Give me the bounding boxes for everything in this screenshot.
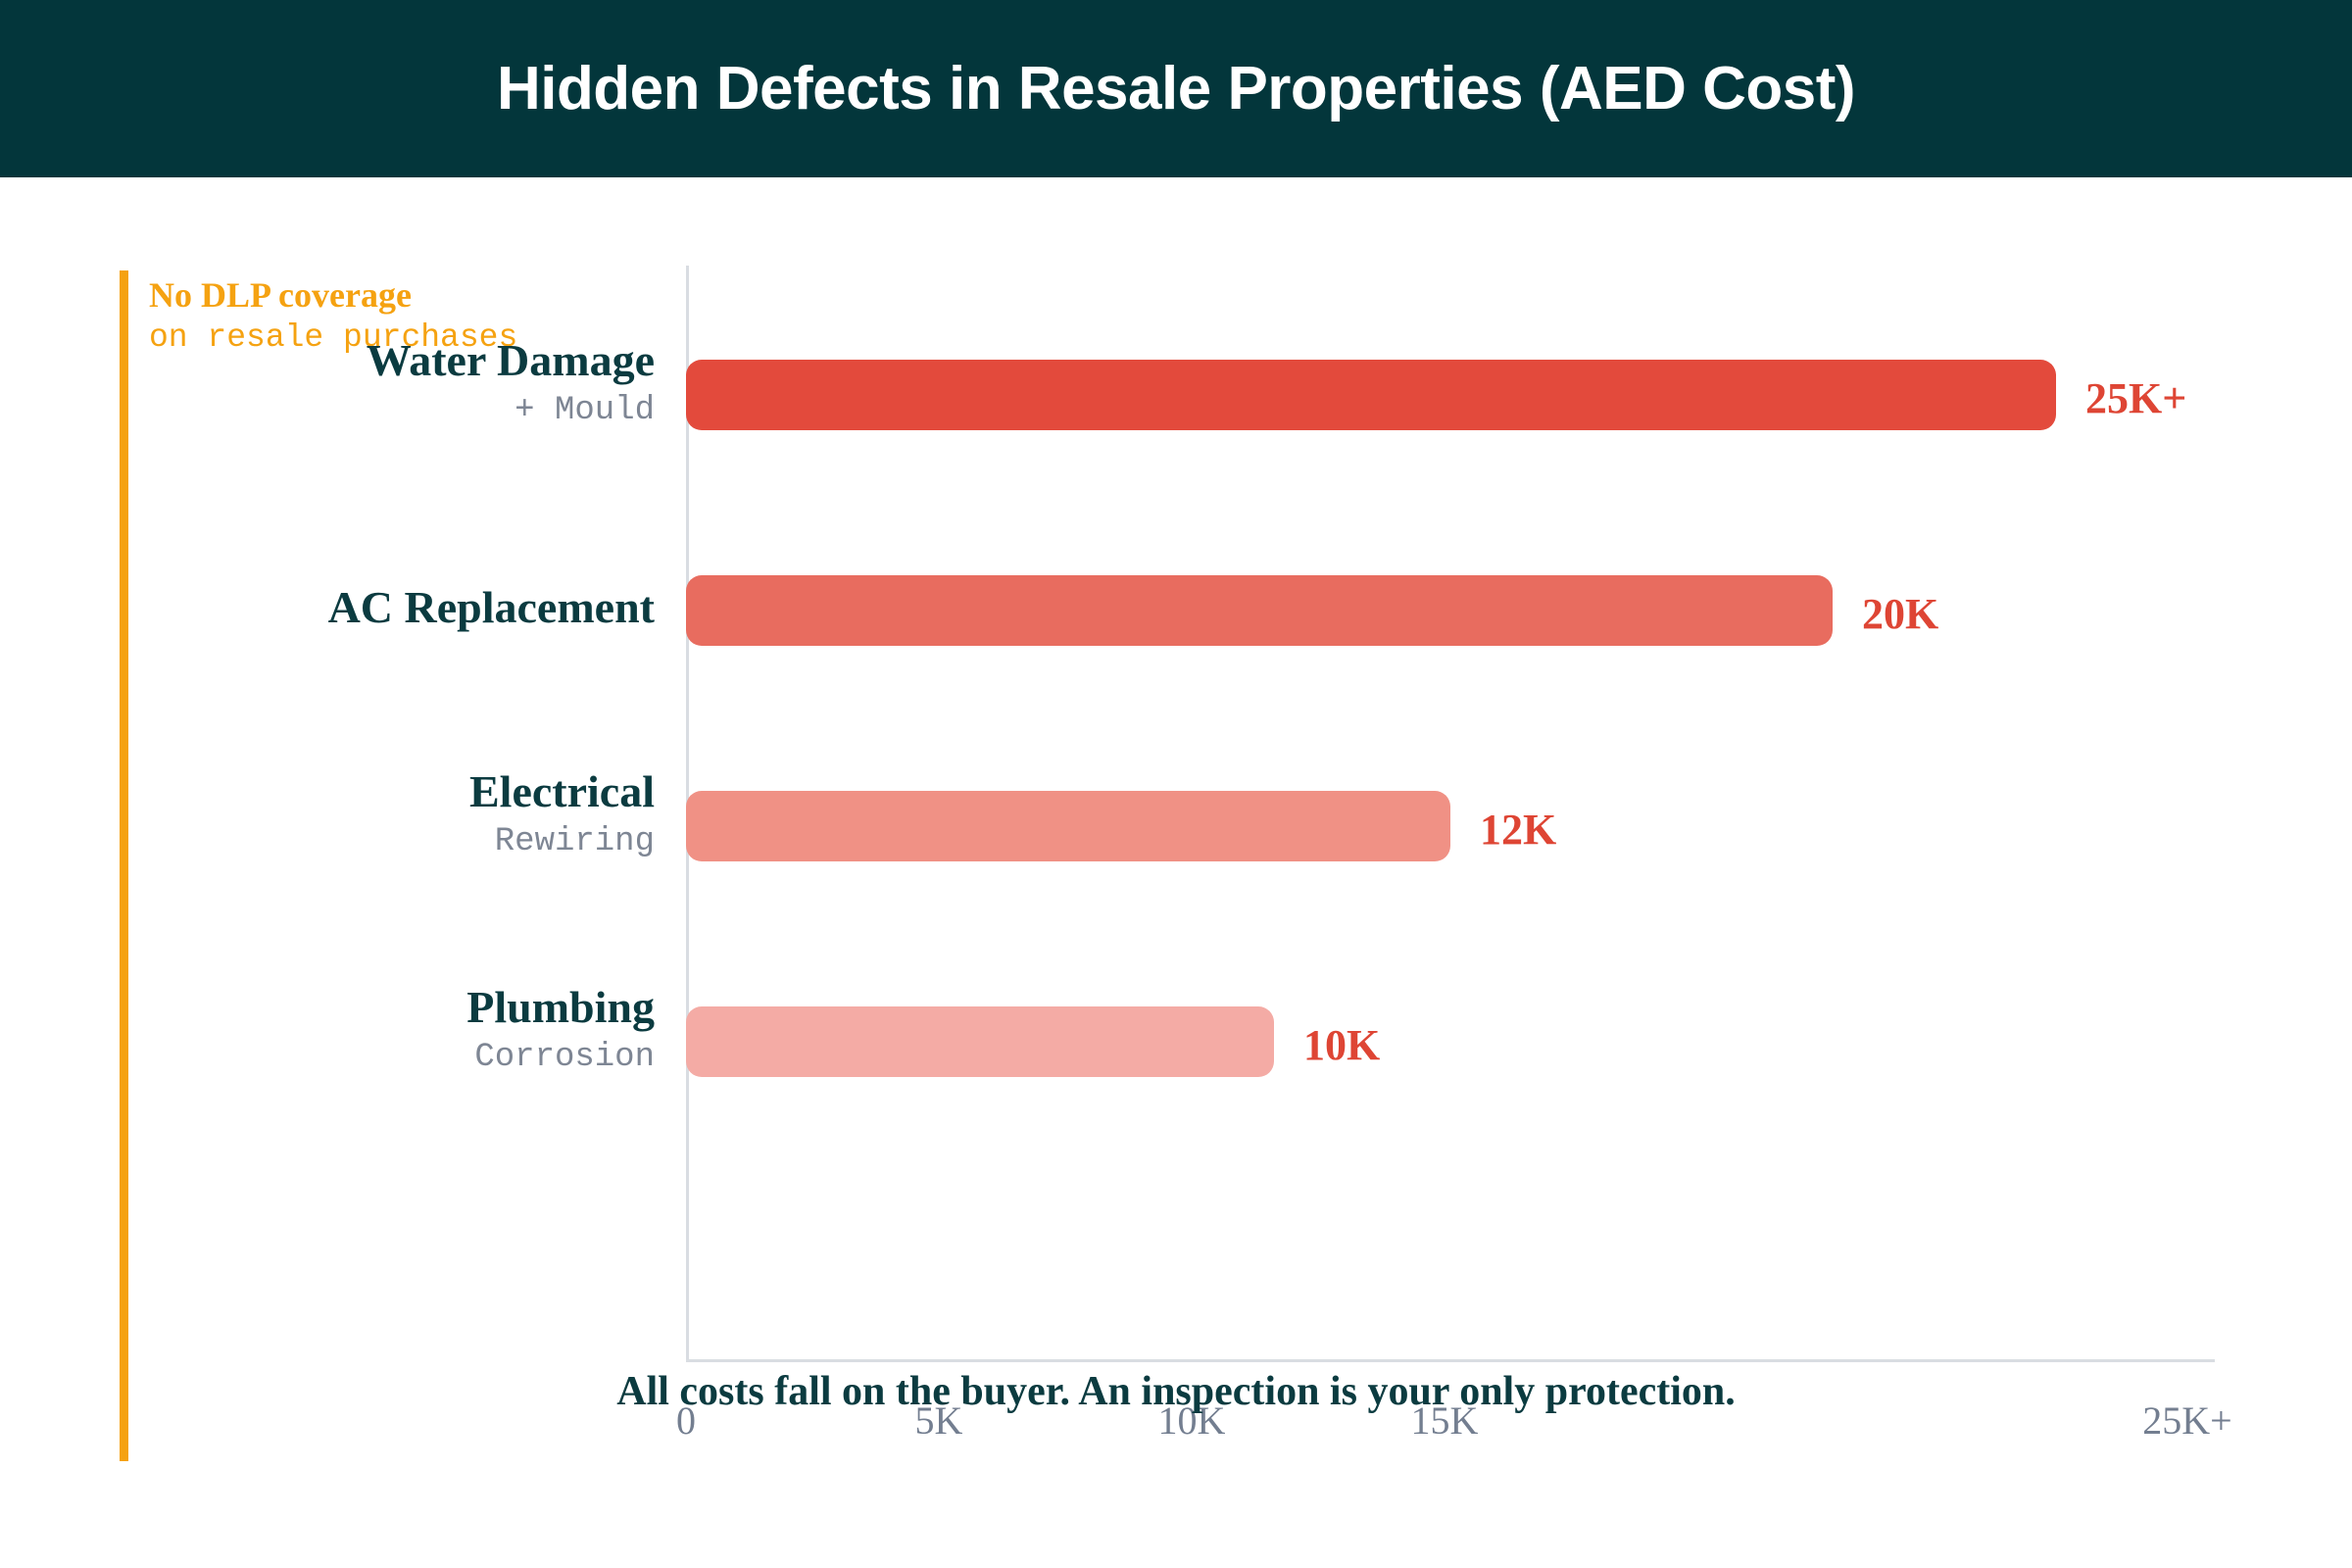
bar-category-label-group: ElectricalRewiring xyxy=(47,769,655,865)
annotation-accent-rule xyxy=(120,270,128,1461)
annotation-headline: No DLP coverage xyxy=(149,275,698,316)
footer-note: All costs fall on the buyer. An inspecti… xyxy=(0,1368,2352,1415)
bar-category-sublabel: Corrosion xyxy=(47,1036,655,1081)
bar-value-label: 20K xyxy=(1862,589,1938,639)
bar[interactable] xyxy=(686,575,1833,646)
bar[interactable] xyxy=(686,360,2056,430)
bar[interactable] xyxy=(686,791,1450,861)
bar-category-label: Plumbing xyxy=(47,985,655,1030)
bar-category-label: Water Damage xyxy=(47,338,655,383)
page-title: Hidden Defects in Resale Properties (AED… xyxy=(497,54,1855,123)
bar-value-label: 12K xyxy=(1480,805,1556,855)
bar-category-label: AC Replacement xyxy=(47,585,655,630)
bar-category-label: Electrical xyxy=(47,769,655,814)
x-axis-spine xyxy=(686,1359,2215,1362)
bar-value-label: 25K+ xyxy=(2085,373,2186,423)
bar-category-sublabel: Rewiring xyxy=(47,820,655,865)
bar-category-label-group: Water Damage+ Mould xyxy=(47,338,655,434)
bar[interactable] xyxy=(686,1006,1274,1077)
chart-plot-area: No DLP coverage on resale purchases Wate… xyxy=(0,177,2352,1568)
bar-value-label: 10K xyxy=(1303,1020,1380,1070)
bar-category-sublabel: + Mould xyxy=(47,389,655,434)
bar-category-label-group: PlumbingCorrosion xyxy=(47,985,655,1081)
title-banner: Hidden Defects in Resale Properties (AED… xyxy=(0,0,2352,177)
bar-category-label-group: AC Replacement xyxy=(47,585,655,630)
